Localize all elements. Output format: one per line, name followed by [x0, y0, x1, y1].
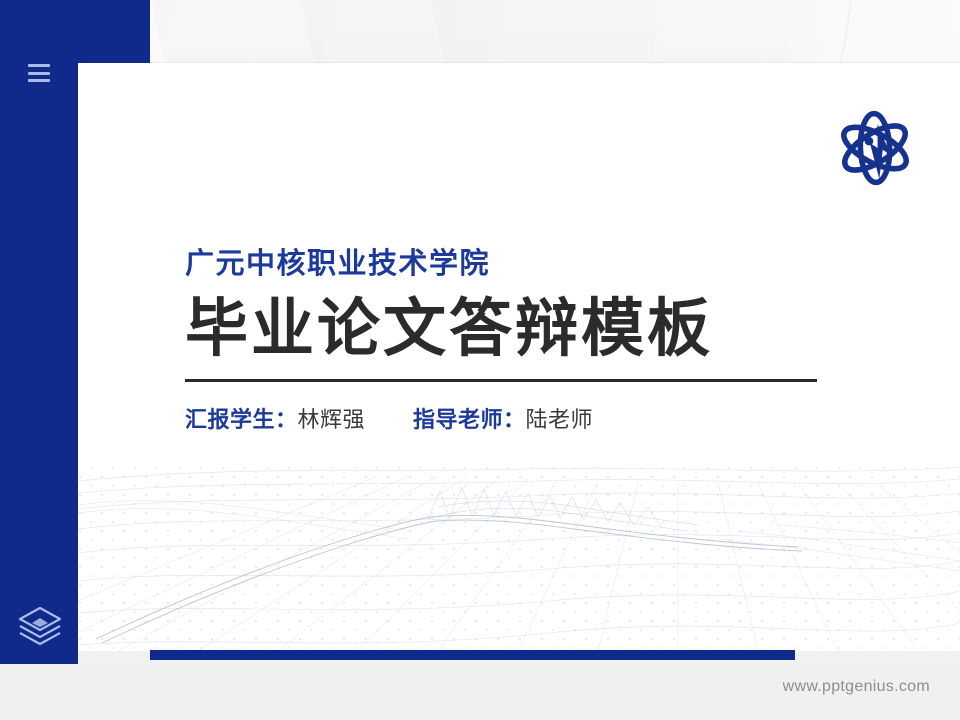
byline-advisor: 指导老师： 陆老师	[413, 402, 593, 434]
advisor-name: 陆老师	[526, 402, 594, 434]
hamburger-bar	[28, 79, 50, 82]
student-name: 林辉强	[298, 402, 366, 434]
hamburger-bar	[28, 72, 50, 75]
page-title: 毕业论文答辩模板	[185, 293, 845, 365]
layers-stack-icon	[14, 600, 66, 652]
byline: 汇报学生： 林辉强 指导老师： 陆老师	[185, 402, 845, 434]
title-divider-rule	[185, 379, 817, 382]
hamburger-menu-icon[interactable]	[28, 64, 50, 82]
title-text-block: 广元中核职业技术学院 毕业论文答辩模板 汇报学生： 林辉强 指导老师： 陆老师	[185, 249, 845, 434]
hamburger-bar	[28, 64, 50, 67]
school-name: 广元中核职业技术学院	[185, 249, 845, 281]
wireframe-mesh-decoration	[78, 421, 960, 651]
left-blue-panel	[0, 0, 78, 664]
advisor-label: 指导老师：	[413, 402, 526, 434]
watermark-url: www.pptgenius.com	[783, 678, 930, 696]
slide-canvas: 广元中核职业技术学院 毕业论文答辩模板 汇报学生： 林辉强 指导老师： 陆老师	[78, 63, 960, 651]
byline-student: 汇报学生： 林辉强	[185, 402, 365, 434]
bottom-accent-bar	[150, 650, 795, 660]
top-left-blue-block	[0, 0, 150, 63]
atom-logo-icon	[832, 105, 918, 191]
slide-stage: 广元中核职业技术学院 毕业论文答辩模板 汇报学生： 林辉强 指导老师： 陆老师 …	[0, 0, 960, 720]
student-label: 汇报学生：	[185, 402, 298, 434]
